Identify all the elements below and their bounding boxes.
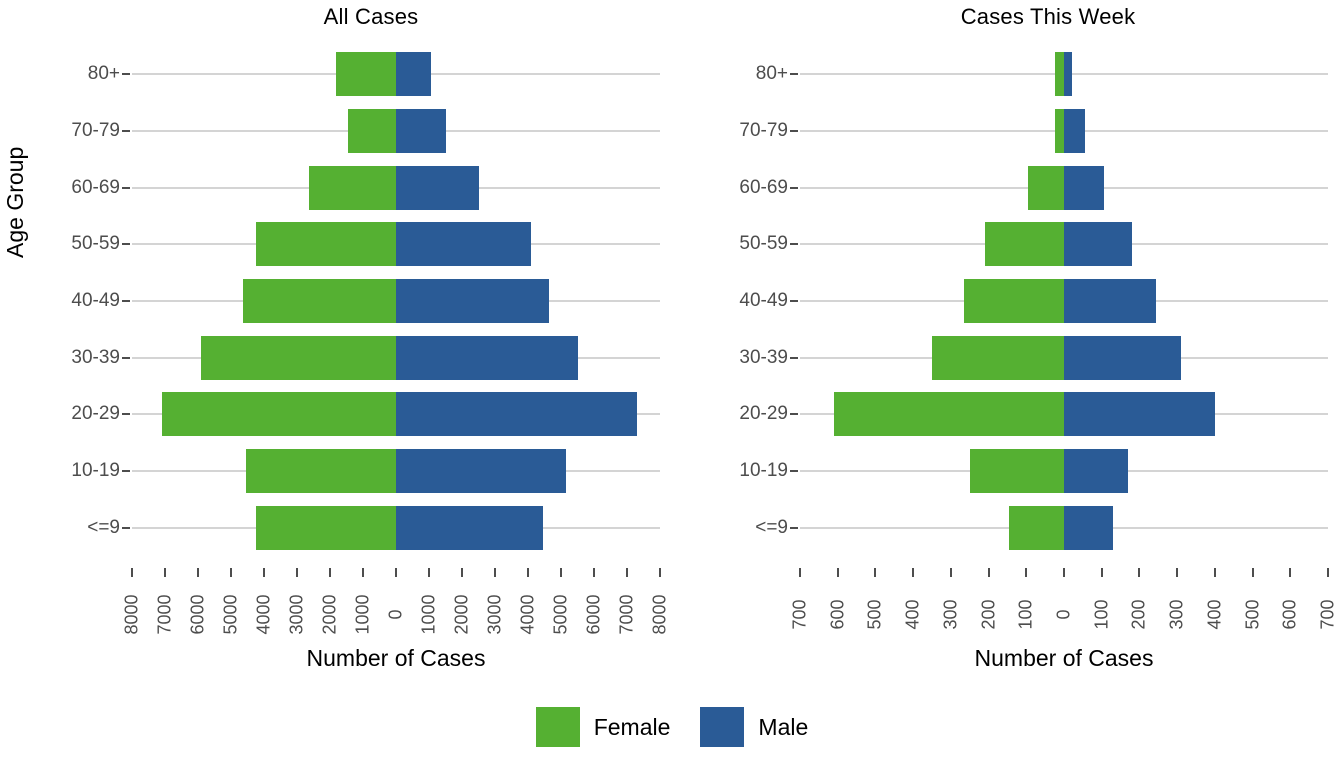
y-tick-label-5059: 50-59 [668, 233, 788, 255]
x-tick-label-8000-0: 8000 [122, 586, 143, 644]
bar-male [1064, 222, 1132, 266]
x-tick-mark [1252, 568, 1254, 577]
pyramid-row-7079 [132, 103, 660, 160]
x-tick-label-3000-5: 3000 [287, 586, 308, 644]
plot-area-all-cases [132, 46, 660, 556]
x-tick-mark [659, 568, 661, 577]
bar-female [256, 506, 396, 550]
x-tick-label-0-7: 0 [1054, 586, 1075, 644]
x-tick-mark [912, 568, 914, 577]
y-tick-mark [790, 73, 798, 75]
plot-area-cases-this-week [800, 46, 1328, 556]
pyramid-row-9 [132, 499, 660, 556]
legend-label-male: Male [758, 714, 808, 741]
x-tick-mark [1289, 568, 1291, 577]
bar-female [243, 279, 396, 323]
y-tick-label-9: <=9 [0, 517, 120, 539]
bar-male [396, 52, 431, 96]
y-tick-mark [122, 187, 130, 189]
x-tick-label-700-0: 700 [790, 586, 811, 644]
y-tick-label-4049: 40-49 [0, 290, 120, 312]
x-tick-label-3000-11: 3000 [485, 586, 506, 644]
y-tick-mark [122, 357, 130, 359]
x-tick-label-600-13: 600 [1280, 586, 1301, 644]
pyramid-row-6069 [800, 159, 1328, 216]
y-tick-mark [790, 187, 798, 189]
x-tick-label-200-9: 200 [1129, 586, 1150, 644]
bar-female [1055, 109, 1064, 153]
x-tick-label-6000-14: 6000 [584, 586, 605, 644]
x-tick-mark [626, 568, 628, 577]
bar-male [396, 166, 479, 210]
x-tick-label-2000-10: 2000 [452, 586, 473, 644]
x-tick-label-5000-13: 5000 [551, 586, 572, 644]
x-axis-title-all-cases: Number of Cases [132, 645, 660, 672]
x-tick-mark [874, 568, 876, 577]
y-tick-mark [122, 130, 130, 132]
pyramid-row-2029 [800, 386, 1328, 443]
x-tick-label-300-10: 300 [1167, 586, 1188, 644]
bar-female [1055, 52, 1064, 96]
bar-female [162, 392, 396, 436]
pyramid-row-6069 [132, 159, 660, 216]
panel-title-all-cases: All Cases [110, 4, 632, 30]
x-tick-label-500-12: 500 [1242, 586, 1263, 644]
y-tick-label-3039: 30-39 [668, 347, 788, 369]
pyramid-row-2029 [132, 386, 660, 443]
x-tick-label-200-5: 200 [978, 586, 999, 644]
x-tick-mark [560, 568, 562, 577]
x-tick-mark [428, 568, 430, 577]
legend-swatch-male [700, 707, 744, 747]
bar-male [1064, 279, 1156, 323]
y-tick-mark [790, 413, 798, 415]
y-tick-label-1019: 10-19 [0, 460, 120, 482]
panel-title-cases-this-week: Cases This Week [792, 4, 1304, 30]
bar-female [834, 392, 1064, 436]
y-tick-label-80: 80+ [0, 63, 120, 85]
y-tick-mark [790, 357, 798, 359]
x-tick-label-0-8: 0 [386, 586, 407, 644]
legend-item-male[interactable]: Male [700, 707, 808, 747]
y-tick-mark [790, 527, 798, 529]
bar-female [309, 166, 396, 210]
y-tick-label-9: <=9 [668, 517, 788, 539]
x-tick-mark [1176, 568, 1178, 577]
pyramid-row-80 [800, 46, 1328, 103]
x-tick-label-1000-9: 1000 [419, 586, 440, 644]
x-tick-mark [1101, 568, 1103, 577]
legend-label-female: Female [594, 714, 671, 741]
pyramid-row-4049 [800, 273, 1328, 330]
y-tick-label-2029: 20-29 [668, 403, 788, 425]
population-pyramid-figure: All Cases Age Group Number of Cases 80+7… [0, 0, 1344, 768]
x-tick-mark [329, 568, 331, 577]
pyramid-row-9 [800, 499, 1328, 556]
x-tick-label-600-1: 600 [827, 586, 848, 644]
bar-female [964, 279, 1064, 323]
x-tick-mark [593, 568, 595, 577]
x-tick-mark [988, 568, 990, 577]
y-tick-mark [122, 243, 130, 245]
x-tick-mark [131, 568, 133, 577]
x-tick-label-500-2: 500 [865, 586, 886, 644]
pyramid-row-5059 [132, 216, 660, 273]
x-tick-mark [197, 568, 199, 577]
bar-male [396, 109, 446, 153]
x-tick-label-2000-6: 2000 [320, 586, 341, 644]
y-tick-mark [790, 300, 798, 302]
y-tick-label-7079: 70-79 [668, 120, 788, 142]
legend-item-female[interactable]: Female [536, 707, 671, 747]
x-tick-mark [1214, 568, 1216, 577]
x-tick-mark [164, 568, 166, 577]
bar-female [348, 109, 396, 153]
pyramid-row-7079 [800, 103, 1328, 160]
y-tick-label-4049: 40-49 [668, 290, 788, 312]
y-tick-label-7079: 70-79 [0, 120, 120, 142]
y-tick-mark [122, 413, 130, 415]
bar-female [256, 222, 396, 266]
y-tick-mark [122, 527, 130, 529]
y-tick-label-6069: 60-69 [668, 177, 788, 199]
legend-swatch-female [536, 707, 580, 747]
bar-male [1064, 506, 1113, 550]
y-tick-mark [122, 73, 130, 75]
bar-male [396, 392, 637, 436]
bar-female [1028, 166, 1064, 210]
x-tick-label-100-6: 100 [1016, 586, 1037, 644]
bar-female [201, 336, 396, 380]
x-tick-mark [950, 568, 952, 577]
y-tick-mark [790, 130, 798, 132]
x-tick-mark [527, 568, 529, 577]
pyramid-row-3039 [132, 329, 660, 386]
x-tick-label-7000-15: 7000 [617, 586, 638, 644]
x-tick-mark [837, 568, 839, 577]
pyramid-row-4049 [132, 273, 660, 330]
x-tick-mark [1063, 568, 1065, 577]
x-tick-mark [1138, 568, 1140, 577]
y-tick-mark [790, 243, 798, 245]
y-tick-mark [122, 470, 130, 472]
x-tick-mark [230, 568, 232, 577]
y-tick-label-3039: 30-39 [0, 347, 120, 369]
x-tick-mark [1327, 568, 1329, 577]
x-tick-label-700-14: 700 [1318, 586, 1339, 644]
pyramid-row-1019 [132, 443, 660, 500]
bar-female [970, 449, 1064, 493]
bar-male [1064, 166, 1104, 210]
bar-male [396, 506, 543, 550]
y-tick-label-1019: 10-19 [668, 460, 788, 482]
y-tick-label-80: 80+ [668, 63, 788, 85]
pyramid-row-3039 [800, 329, 1328, 386]
panel-all-cases: All Cases Age Group Number of Cases 80+7… [0, 0, 672, 690]
bar-male [396, 336, 578, 380]
bar-male [396, 279, 549, 323]
pyramid-row-80 [132, 46, 660, 103]
bar-male [1064, 392, 1215, 436]
x-tick-mark [461, 568, 463, 577]
x-tick-label-400-11: 400 [1204, 586, 1225, 644]
bar-female [1009, 506, 1064, 550]
x-tick-label-1000-7: 1000 [353, 586, 374, 644]
x-tick-label-300-4: 300 [940, 586, 961, 644]
bar-male [1064, 52, 1072, 96]
x-tick-mark [494, 568, 496, 577]
bar-male [1064, 336, 1181, 380]
x-tick-label-100-8: 100 [1091, 586, 1112, 644]
bar-female [932, 336, 1064, 380]
x-tick-label-400-3: 400 [903, 586, 924, 644]
y-tick-label-6069: 60-69 [0, 177, 120, 199]
x-tick-label-4000-4: 4000 [254, 586, 275, 644]
bar-male [1064, 109, 1085, 153]
bar-male [1064, 449, 1128, 493]
x-tick-mark [1025, 568, 1027, 577]
x-tick-label-8000-16: 8000 [650, 586, 671, 644]
y-tick-mark [122, 300, 130, 302]
bar-female [336, 52, 396, 96]
x-tick-mark [263, 568, 265, 577]
x-tick-mark [362, 568, 364, 577]
x-tick-mark [395, 568, 397, 577]
x-tick-label-4000-12: 4000 [518, 586, 539, 644]
y-tick-label-5059: 50-59 [0, 233, 120, 255]
x-axis-title-cases-this-week: Number of Cases [800, 645, 1328, 672]
x-tick-label-5000-3: 5000 [221, 586, 242, 644]
chart-legend: FemaleMale [0, 700, 1344, 754]
pyramid-row-1019 [800, 443, 1328, 500]
y-tick-mark [790, 470, 798, 472]
panel-cases-this-week: Cases This Week Number of Cases 80+70-79… [672, 0, 1344, 690]
x-tick-mark [799, 568, 801, 577]
x-tick-mark [296, 568, 298, 577]
bar-female [985, 222, 1064, 266]
bar-female [246, 449, 396, 493]
bar-male [396, 222, 531, 266]
x-tick-label-7000-1: 7000 [155, 586, 176, 644]
x-tick-label-6000-2: 6000 [188, 586, 209, 644]
pyramid-row-5059 [800, 216, 1328, 273]
y-tick-label-2029: 20-29 [0, 403, 120, 425]
bar-male [396, 449, 566, 493]
